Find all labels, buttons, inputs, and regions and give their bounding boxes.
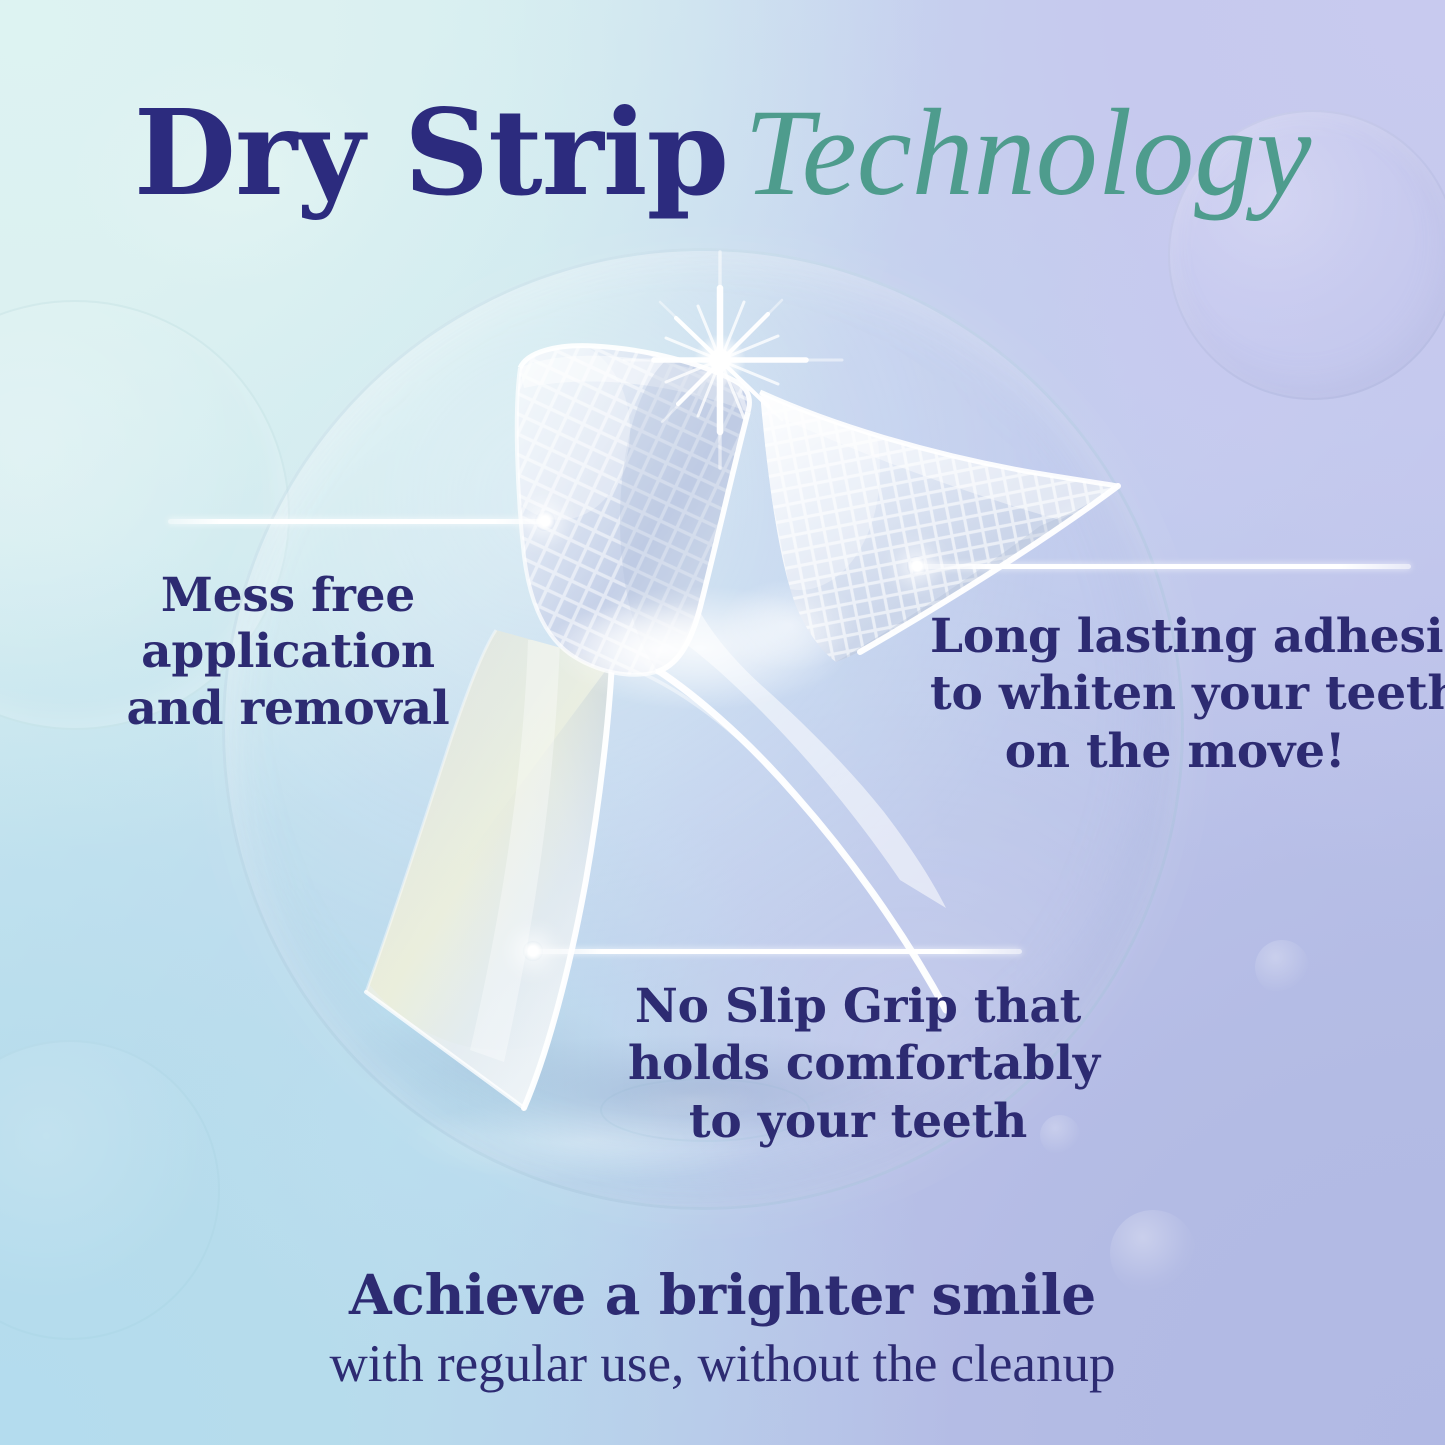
- leader-dot-mess-free: [535, 511, 555, 531]
- footer-subline: with regular use, without the cleanup: [0, 1330, 1445, 1399]
- callout-mess-free: Mess free application and removal: [88, 568, 488, 737]
- callout-no-slip-grip-line-3: to your teeth: [628, 1093, 1088, 1150]
- page-title: Dry Strip Technology: [0, 82, 1445, 224]
- strip-twist-highlight-2: [720, 579, 860, 671]
- callout-long-lasting-line-1: Long lasting adhesion: [930, 608, 1420, 665]
- leader-line-long-lasting: [917, 564, 1411, 569]
- infographic-canvas: Mess free application and removal Long l…: [0, 0, 1445, 1445]
- callout-long-lasting-line-2: to whiten your teeth: [930, 665, 1420, 722]
- callout-no-slip-grip: No Slip Grip that holds comfortably to y…: [628, 978, 1088, 1150]
- footer-headline: Achieve a brighter smile: [0, 1266, 1445, 1324]
- callout-mess-free-line-3: and removal: [88, 681, 488, 737]
- page-title-secondary: Technology: [744, 84, 1311, 221]
- callout-no-slip-grip-line-1: No Slip Grip that: [628, 978, 1088, 1035]
- footer-message: Achieve a brighter smile with regular us…: [0, 1266, 1445, 1399]
- leader-line-no-slip-grip: [533, 949, 1022, 954]
- callout-long-lasting-adhesion: Long lasting adhesion to whiten your tee…: [930, 608, 1420, 780]
- callout-mess-free-line-2: application: [88, 624, 488, 680]
- leader-line-mess-free: [168, 519, 548, 524]
- leader-dot-long-lasting: [907, 556, 927, 576]
- callout-long-lasting-line-3: on the move!: [930, 723, 1420, 780]
- leader-dot-no-slip-grip: [523, 941, 543, 961]
- callout-no-slip-grip-line-2: holds comfortably: [628, 1035, 1088, 1092]
- page-title-primary: Dry Strip: [134, 83, 728, 222]
- callout-mess-free-line-1: Mess free: [88, 568, 488, 624]
